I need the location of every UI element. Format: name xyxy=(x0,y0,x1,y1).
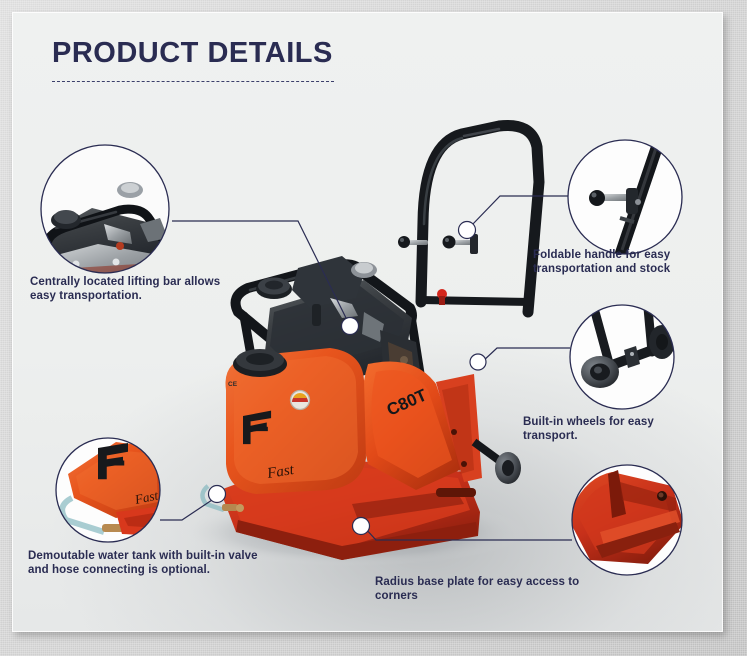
anchor-dot-tank xyxy=(209,486,226,503)
anchor-dot-lifting-bar xyxy=(342,318,359,335)
caption-lifting-bar: Centrally located lifting bar allows eas… xyxy=(30,276,235,303)
product-diagram: C80T xyxy=(12,12,723,632)
callout-photo-base-plate xyxy=(568,465,684,575)
connector-wheels xyxy=(482,348,570,362)
anchor-dot-handle xyxy=(459,222,476,239)
connector-handle xyxy=(471,196,568,226)
content-panel: PRODUCT DETAILS xyxy=(12,12,723,632)
product-plate-compactor: C80T xyxy=(202,125,539,560)
callout-photo-water-tank: Fast xyxy=(56,438,164,542)
handle-crossbar xyxy=(421,300,531,302)
caption-built-in-wheels: Built-in wheels for easy transport. xyxy=(523,416,705,443)
caption-water-tank: Demoutable water tank with built-in valv… xyxy=(28,550,268,577)
anchor-dot-wheels xyxy=(470,354,486,370)
water-tank: CE Fast xyxy=(226,348,367,494)
anchor-dot-base-plate xyxy=(353,518,370,535)
caption-base-plate: Radius base plate for easy access to cor… xyxy=(375,576,625,603)
callout-photo-wheels xyxy=(570,305,675,409)
product-details-image: PRODUCT DETAILS xyxy=(0,0,747,656)
caption-foldable-handle: Foldable handle for easy transportation … xyxy=(533,249,719,276)
callout-photo-handle xyxy=(568,138,682,256)
ce-mark: CE xyxy=(228,381,238,388)
callout-photo-lifting-bar xyxy=(32,145,172,284)
handle-assembly xyxy=(421,125,539,312)
